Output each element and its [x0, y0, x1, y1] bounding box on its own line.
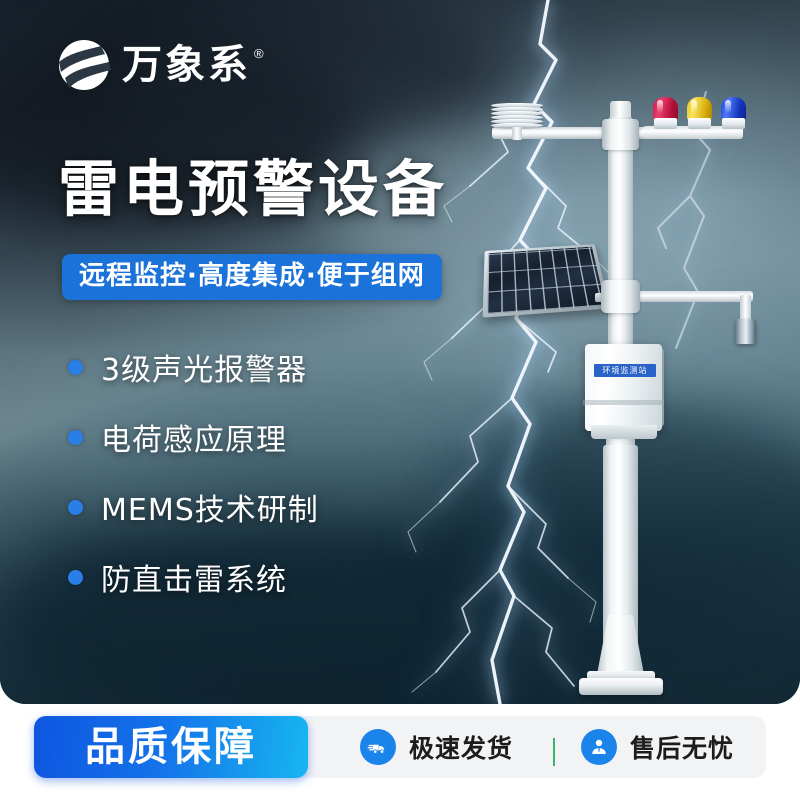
delivery-truck-icon [360, 729, 396, 765]
product-illustration: 环境监测站 [455, 95, 785, 704]
alarm-beacon-blue [721, 97, 746, 131]
alarm-beacon-red [653, 97, 678, 131]
footer-divider [553, 738, 555, 766]
hero-banner: 万象系 ® 雷电预警设备 远程监控·高度集成·便于组网 3级声光报警器 电荷感应… [0, 0, 800, 704]
middle-cross-arm [625, 291, 753, 302]
quality-badge: 品质保障 [34, 716, 308, 778]
feature-label: MEMS技术研制 [101, 485, 319, 529]
control-box-label: 环境监测站 [594, 364, 656, 377]
base-plate [579, 678, 663, 695]
downward-sensor [735, 319, 756, 344]
alarm-beacon-yellow [687, 97, 712, 131]
solar-panel-frame [483, 244, 611, 318]
subtitle-badge: 远程监控·高度集成·便于组网 [62, 254, 442, 300]
mounting-mast-upper [608, 117, 633, 372]
service-label-aftersales: 售后无忧 [630, 729, 734, 765]
blue-dot-icon [68, 430, 83, 445]
control-box [585, 344, 662, 431]
service-footer: 品质保障 极速发货 [34, 716, 766, 778]
solar-panel-cells [487, 247, 606, 314]
radiation-shield-sensor [491, 103, 543, 130]
service-label-shipping: 极速发货 [409, 729, 513, 765]
mast-collar-middle [601, 280, 640, 313]
globe-swoosh-logo-icon [57, 38, 111, 92]
solar-panel [483, 244, 611, 318]
promo-image-page: 万象系 ® 雷电预警设备 远程监控·高度集成·便于组网 3级声光报警器 电荷感应… [0, 0, 800, 800]
control-box-seam [583, 400, 664, 405]
trademark-symbol: ® [254, 47, 264, 60]
blue-dot-icon [68, 500, 83, 515]
list-item: 防直击雷系统 [68, 555, 319, 599]
list-item: 3级声光报警器 [68, 345, 319, 389]
control-box-bottom [591, 425, 657, 439]
feature-label: 3级声光报警器 [101, 345, 307, 389]
brand-name: 万象系 [122, 45, 251, 85]
service-item-shipping: 极速发货 [360, 729, 513, 765]
list-item: 电荷感应原理 [68, 415, 319, 459]
feature-list: 3级声光报警器 电荷感应原理 MEMS技术研制 防直击雷系统 [68, 345, 319, 599]
service-item-aftersales: 售后无忧 [581, 729, 734, 765]
brand-logo: 万象系 ® [57, 38, 264, 92]
brand-wordmark: 万象系 ® [122, 45, 264, 85]
quality-badge-label: 品质保障 [85, 727, 257, 767]
support-agent-icon [581, 729, 617, 765]
blue-dot-icon [68, 360, 83, 375]
blue-dot-icon [68, 570, 83, 585]
list-item: MEMS技术研制 [68, 485, 319, 529]
page-title: 雷电预警设备 [58, 157, 448, 223]
feature-label: 电荷感应原理 [101, 415, 287, 459]
feature-label: 防直击雷系统 [101, 555, 287, 599]
mast-collar-top [602, 119, 639, 150]
